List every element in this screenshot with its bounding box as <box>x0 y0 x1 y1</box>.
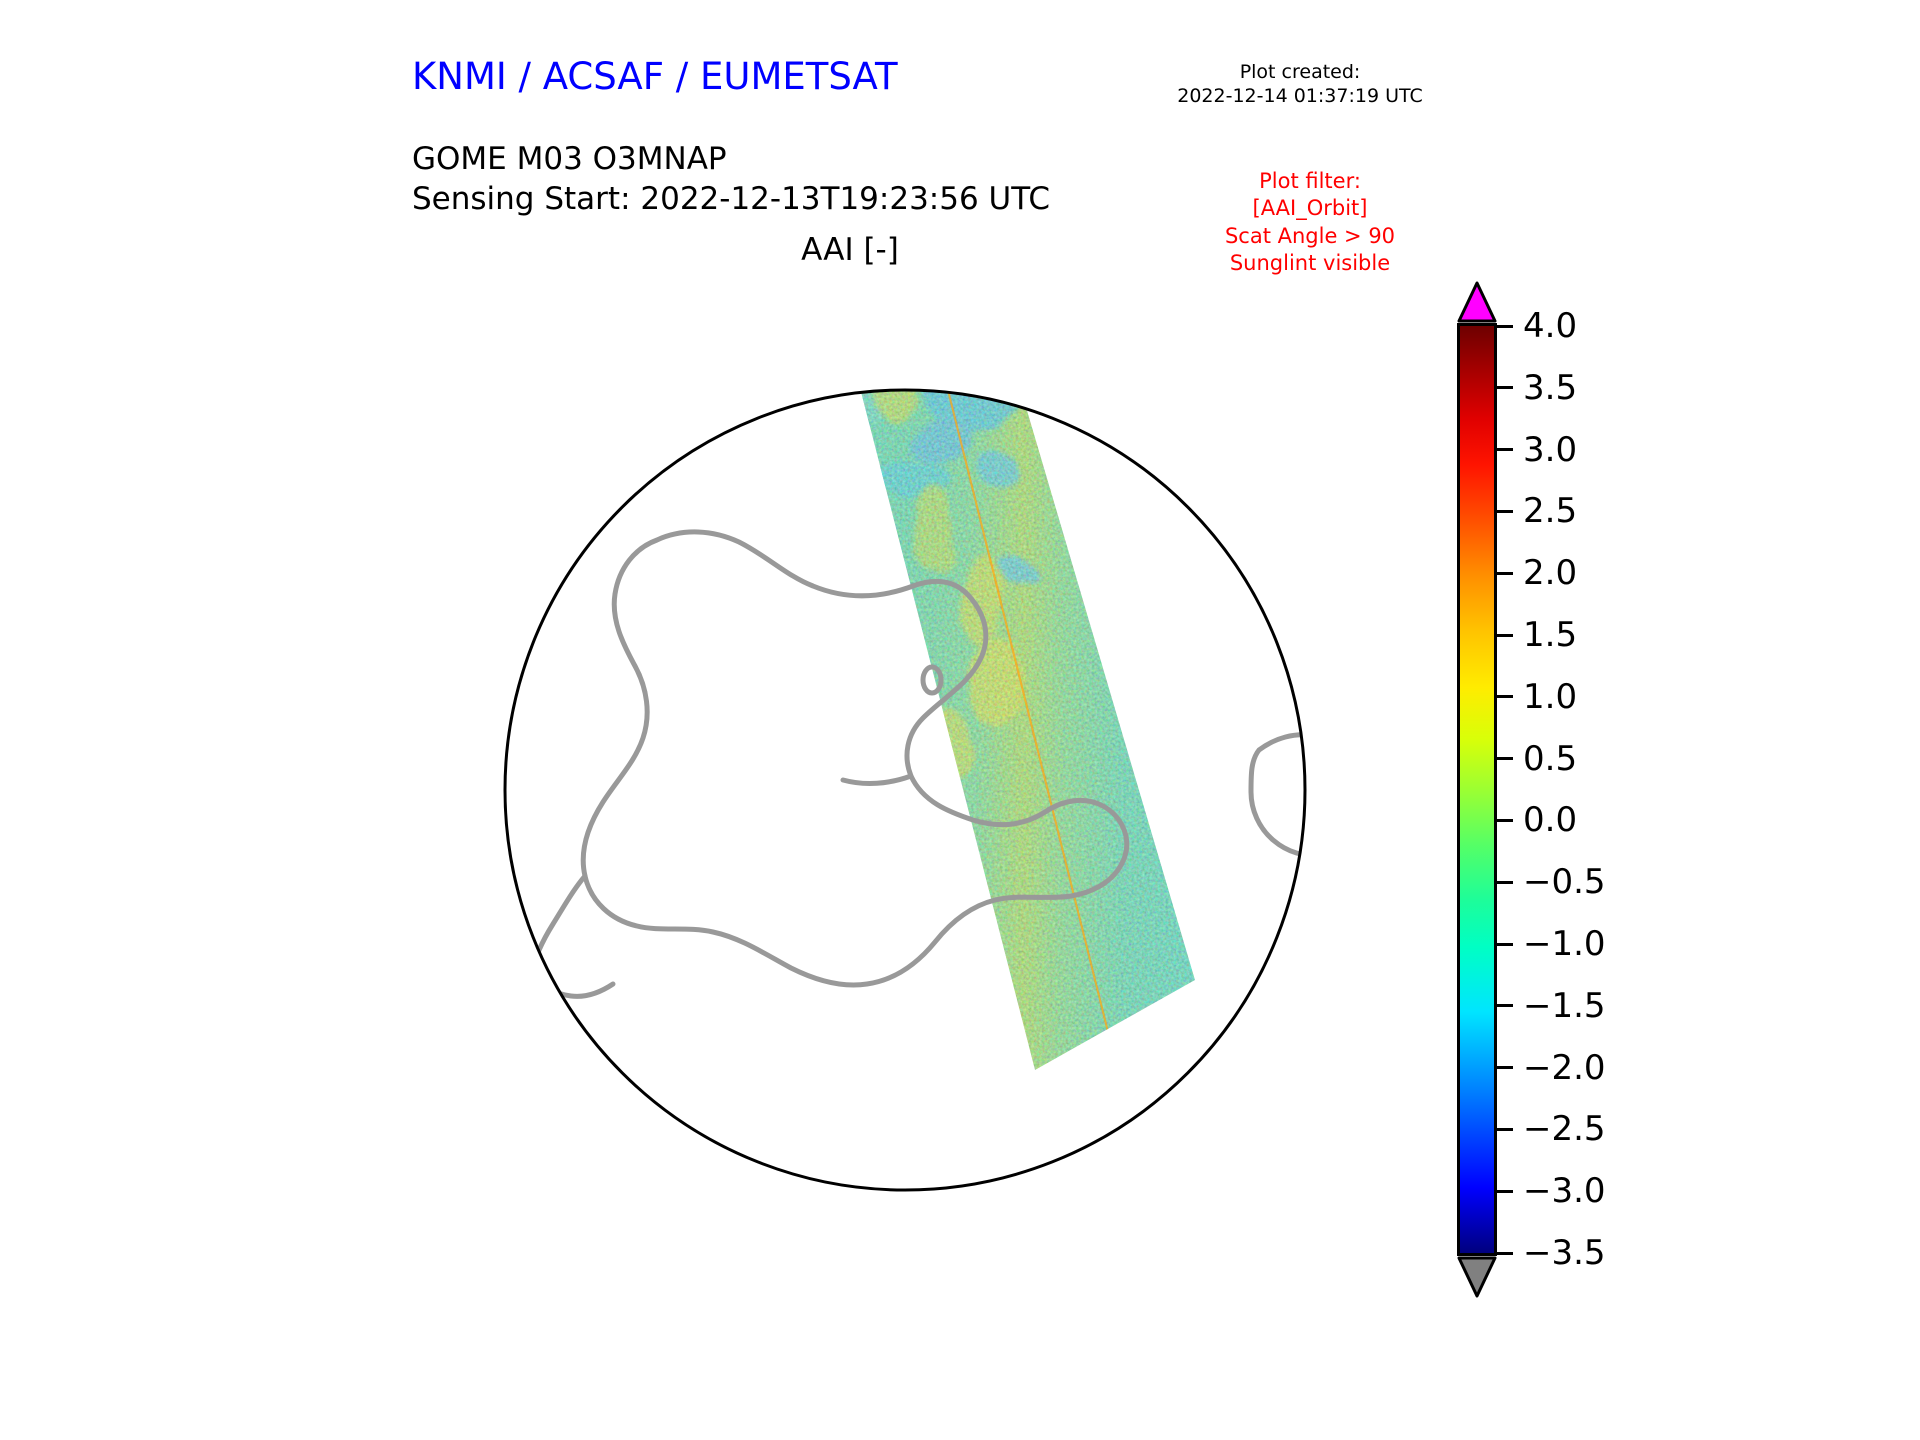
colorbar-tick-label: 3.0 <box>1523 433 1577 467</box>
colorbar-tick-label: 0.5 <box>1523 742 1577 776</box>
landmass-upper-left <box>763 304 855 338</box>
colorbar-tick-label: 3.5 <box>1523 371 1577 405</box>
colorbar-tick-label: −2.0 <box>1523 1051 1606 1085</box>
landmass-arc-b <box>1395 880 1407 926</box>
plot-canvas: KNMI / ACSAF / EUMETSAT Plot created: 20… <box>0 0 1920 1440</box>
colorbar-tick-label: 0.0 <box>1523 803 1577 837</box>
colorbar-tick-mark <box>1497 1128 1513 1131</box>
sensing-start-title: Sensing Start: 2022-12-13T19:23:56 UTC <box>412 180 1050 220</box>
colorbar-tick-mark <box>1497 448 1513 451</box>
tierra-del-fuego <box>1141 1229 1197 1282</box>
colorbar-tick-label: 2.0 <box>1523 556 1577 590</box>
colorbar-tick-mark <box>1497 1252 1513 1255</box>
plot-filter-line: [AAI_Orbit] <box>1180 195 1440 222</box>
colorbar-tick-label: −3.0 <box>1523 1174 1606 1208</box>
colorbar-tick-mark <box>1497 325 1513 328</box>
colorbar-tick-mark <box>1497 634 1513 637</box>
title-block: GOME M03 O3MNAP Sensing Start: 2022-12-1… <box>412 140 1050 219</box>
colorbar-tick-mark <box>1497 695 1513 698</box>
plot-created-timestamp: 2022-12-14 01:37:19 UTC <box>1160 84 1440 108</box>
colorbar-tick-mark <box>1497 1066 1513 1069</box>
colorbar-tick-mark <box>1497 510 1513 513</box>
map-svg <box>395 280 1415 1300</box>
colorbar-tick-mark <box>1497 943 1513 946</box>
colorbar-tick-label: 1.0 <box>1523 680 1577 714</box>
colorbar-tick-mark <box>1497 1004 1513 1007</box>
plot-filter-line: Scat Angle > 90 <box>1180 223 1440 250</box>
landmass-upper-left-b <box>695 330 739 352</box>
small-island-sa <box>1150 1199 1164 1211</box>
plot-filter-line: Sunglint visible <box>1180 250 1440 277</box>
south-america-coastline <box>1120 1122 1235 1227</box>
island-upper-left <box>603 394 631 414</box>
colorbar-tick-label: −0.5 <box>1523 865 1606 899</box>
colorbar-tick-mark <box>1497 819 1513 822</box>
colorbar: 4.03.53.02.52.01.51.00.50.0−0.5−1.0−1.5−… <box>1445 280 1745 1290</box>
colorbar-tick-mark <box>1497 1190 1513 1193</box>
colorbar-tick-label: −3.5 <box>1523 1236 1606 1270</box>
landmass-arc-a <box>1387 800 1405 850</box>
colorbar-tick-label: 1.5 <box>1523 618 1577 652</box>
quantity-label: AAI [-] <box>660 232 1040 268</box>
plot-filter-line: Plot filter: <box>1180 168 1440 195</box>
institutes-title: KNMI / ACSAF / EUMETSAT <box>412 55 898 98</box>
instrument-title: GOME M03 O3MNAP <box>412 140 1050 180</box>
colorbar-tick-label: −2.5 <box>1523 1112 1606 1146</box>
plot-created-label: Plot created: <box>1160 60 1440 84</box>
colorbar-tick-mark <box>1497 757 1513 760</box>
map-plot-area <box>395 280 1415 1300</box>
colorbar-tick-mark <box>1497 386 1513 389</box>
plot-created-block: Plot created: 2022-12-14 01:37:19 UTC <box>1160 60 1440 109</box>
colorbar-tick-label: 4.0 <box>1523 309 1577 343</box>
plot-filter-block: Plot filter: [AAI_Orbit] Scat Angle > 90… <box>1180 168 1440 277</box>
colorbar-tick-mark <box>1497 572 1513 575</box>
island-left <box>455 782 479 798</box>
colorbar-tick-label: 2.5 <box>1523 494 1577 528</box>
colorbar-ticks: 4.03.53.02.52.01.51.00.50.0−0.5−1.0−1.5−… <box>1445 280 1745 1290</box>
colorbar-tick-mark <box>1497 881 1513 884</box>
colorbar-tick-label: −1.5 <box>1523 989 1606 1023</box>
colorbar-tick-label: −1.0 <box>1523 927 1606 961</box>
